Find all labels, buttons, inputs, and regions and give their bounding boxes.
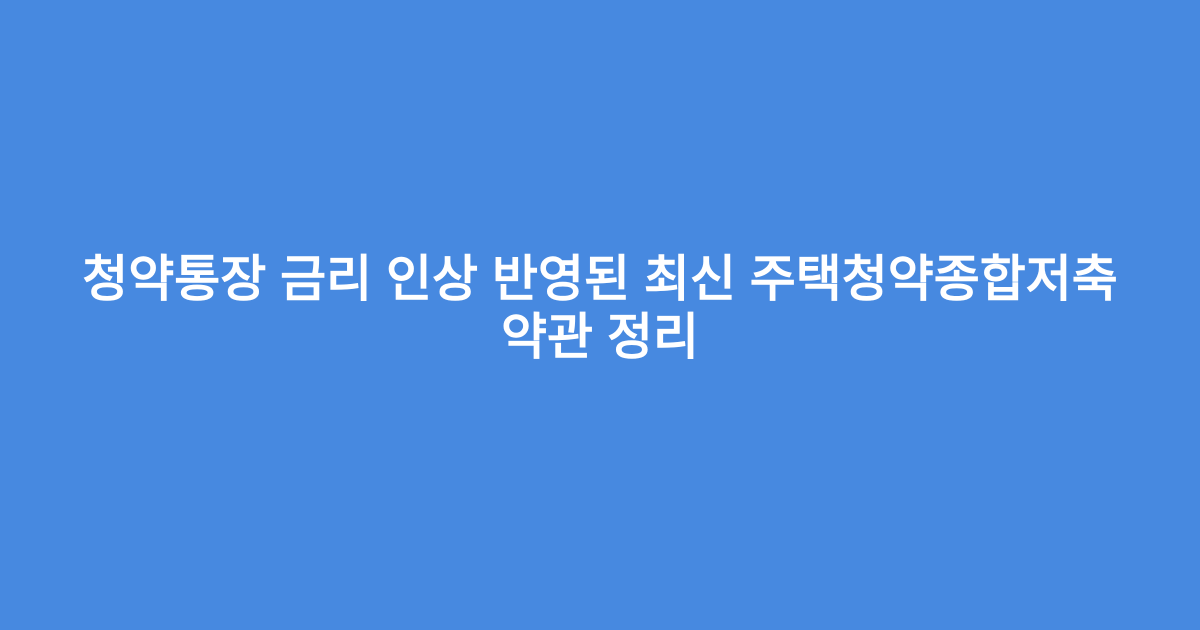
title-block: 청약통장 금리 인상 반영된 최신 주택청약종합저축 약관 정리 [50,250,1150,366]
banner-title: 청약통장 금리 인상 반영된 최신 주택청약종합저축 약관 정리 [60,250,1140,366]
banner-card: 청약통장 금리 인상 반영된 최신 주택청약종합저축 약관 정리 [0,0,1200,630]
